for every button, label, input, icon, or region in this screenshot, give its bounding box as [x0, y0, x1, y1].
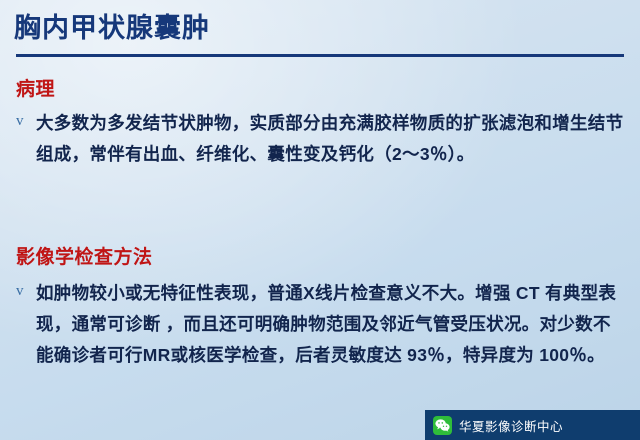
wechat-icon	[433, 416, 452, 435]
title-divider	[16, 54, 624, 57]
footer-label: 华夏影像诊断中心	[459, 416, 563, 435]
bullet-imaging: v 如肿物较小或无特征性表现，普通X线片检查意义不大。增强 CT 有典型表现，通…	[16, 278, 626, 371]
bullet-pathology-text: 大多数为多发结节状肿物，实质部分由充满胶样物质的扩张滤泡和增生结节组成，常伴有出…	[36, 108, 626, 170]
slide-canvas: 胸内甲状腺囊肿 病理 v 大多数为多发结节状肿物，实质部分由充满胶样物质的扩张滤…	[0, 0, 640, 440]
section-heading-imaging: 影像学检查方法	[16, 242, 153, 269]
page-title: 胸内甲状腺囊肿	[14, 14, 210, 44]
bullet-imaging-text: 如肿物较小或无特征性表现，普通X线片检查意义不大。增强 CT 有典型表现，通常可…	[36, 278, 626, 371]
bullet-marker-icon: v	[16, 278, 36, 304]
bullet-marker-icon: v	[16, 108, 36, 134]
bullet-pathology: v 大多数为多发结节状肿物，实质部分由充满胶样物质的扩张滤泡和增生结节组成，常伴…	[16, 108, 626, 170]
section-heading-pathology: 病理	[16, 74, 55, 101]
footer-watermark-bar: 华夏影像诊断中心	[425, 410, 640, 440]
